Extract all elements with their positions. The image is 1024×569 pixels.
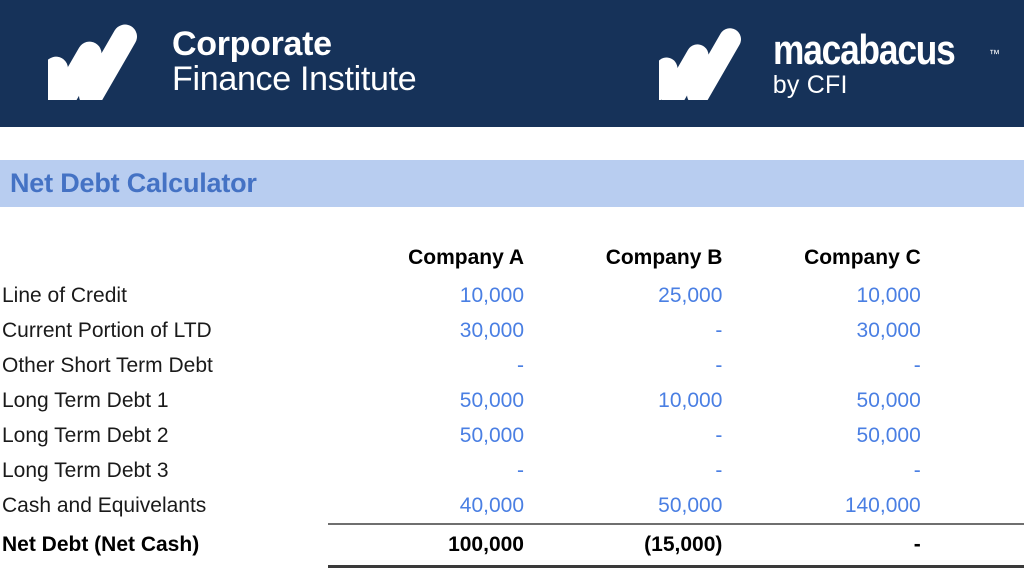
table-row: Long Term Debt 3 - - -	[0, 453, 1024, 488]
row-spacer	[923, 453, 1024, 488]
row-label: Line of Credit	[0, 278, 328, 313]
column-header-company-b: Company B	[526, 238, 724, 278]
cell-value: 50,000	[526, 488, 724, 524]
cfi-wordmark-line1: Corporate	[172, 27, 416, 62]
total-row-spacer	[923, 524, 1024, 567]
cfi-brand-lockup: Corporate Finance Institute	[48, 18, 416, 105]
column-header-blank	[0, 238, 328, 278]
table-row: Long Term Debt 1 50,000 10,000 50,000	[0, 383, 1024, 418]
net-debt-calculator-table: Company A Company B Company C Line of Cr…	[0, 238, 1024, 568]
row-label: Long Term Debt 1	[0, 383, 328, 418]
brand-header-band: Corporate Finance Institute macabacus™ b…	[0, 0, 1024, 127]
total-row-label: Net Debt (Net Cash)	[0, 524, 328, 567]
cell-value: 10,000	[526, 383, 724, 418]
cell-value: 30,000	[724, 313, 922, 348]
row-spacer	[923, 348, 1024, 383]
table-total-row: Net Debt (Net Cash) 100,000 (15,000) -	[0, 524, 1024, 567]
cell-value: -	[724, 348, 922, 383]
macabacus-wordmark-line2: by CFI	[773, 73, 1000, 98]
column-header-spacer	[923, 238, 1024, 278]
cell-value: 50,000	[328, 383, 526, 418]
table-body: Line of Credit 10,000 25,000 10,000 Curr…	[0, 278, 1024, 567]
cell-value: 30,000	[328, 313, 526, 348]
cfi-wordmark: Corporate Finance Institute	[172, 27, 416, 96]
cell-value: -	[328, 348, 526, 383]
row-spacer	[923, 313, 1024, 348]
table-row: Line of Credit 10,000 25,000 10,000	[0, 278, 1024, 313]
table-row: Current Portion of LTD 30,000 - 30,000	[0, 313, 1024, 348]
row-spacer	[923, 383, 1024, 418]
row-spacer	[923, 488, 1024, 524]
cell-value: 40,000	[328, 488, 526, 524]
cell-value: 10,000	[724, 278, 922, 313]
cell-value: 10,000	[328, 278, 526, 313]
cell-value: 50,000	[724, 418, 922, 453]
total-cell-value: -	[724, 524, 922, 567]
page-title-banner: Net Debt Calculator	[0, 160, 1024, 207]
row-label: Long Term Debt 2	[0, 418, 328, 453]
table-row: Cash and Equivelants 40,000 50,000 140,0…	[0, 488, 1024, 524]
macabacus-wordmark: macabacus™ by CFI	[773, 29, 1000, 98]
cell-value: 50,000	[328, 418, 526, 453]
total-cell-value: 100,000	[328, 524, 526, 567]
table-header: Company A Company B Company C	[0, 238, 1024, 278]
table-row: Long Term Debt 2 50,000 - 50,000	[0, 418, 1024, 453]
row-label: Current Portion of LTD	[0, 313, 328, 348]
table-row: Other Short Term Debt - - -	[0, 348, 1024, 383]
cell-value: 50,000	[724, 383, 922, 418]
total-cell-value: (15,000)	[526, 524, 724, 567]
row-label: Other Short Term Debt	[0, 348, 328, 383]
column-header-company-a: Company A	[328, 238, 526, 278]
row-spacer	[923, 418, 1024, 453]
trademark-symbol: ™	[989, 49, 1000, 61]
page-title: Net Debt Calculator	[0, 168, 257, 199]
macabacus-slashes-logo-icon	[659, 22, 755, 105]
row-spacer	[923, 278, 1024, 313]
cell-value: -	[724, 453, 922, 488]
macabacus-brand-lockup: macabacus™ by CFI	[659, 22, 1000, 105]
cfi-wordmark-line2: Finance Institute	[172, 62, 416, 97]
row-label: Cash and Equivelants	[0, 488, 328, 524]
column-header-company-c: Company C	[724, 238, 922, 278]
cell-value: -	[328, 453, 526, 488]
cell-value: -	[526, 313, 724, 348]
table-header-row: Company A Company B Company C	[0, 238, 1024, 278]
cell-value: -	[526, 418, 724, 453]
cell-value: -	[526, 453, 724, 488]
macabacus-wordmark-line1: macabacus	[773, 29, 955, 71]
cell-value: 140,000	[724, 488, 922, 524]
cell-value: -	[526, 348, 724, 383]
cell-value: 25,000	[526, 278, 724, 313]
row-label: Long Term Debt 3	[0, 453, 328, 488]
cfi-slashes-logo-icon	[48, 18, 152, 105]
